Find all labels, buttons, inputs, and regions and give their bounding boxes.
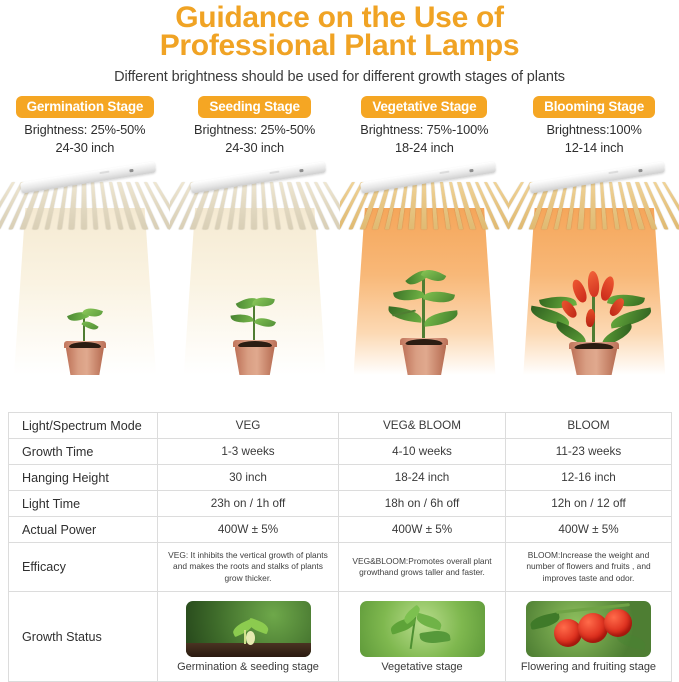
cell-height-vegbloom: 18-24 inch	[339, 465, 506, 491]
plant-seedling-medium	[215, 275, 295, 375]
cell-efficacy-veg: VEG: It inhibits the vertical growth of …	[158, 543, 339, 592]
lamp-led-bar	[409, 182, 417, 229]
pot-body	[66, 348, 104, 375]
plant-stem	[422, 277, 425, 341]
lamp-led-bar	[396, 182, 407, 229]
cell-mode-bloom: BLOOM	[506, 413, 672, 439]
title-line-1: Guidance on the Use of	[0, 4, 679, 32]
stage-badge-blooming[interactable]: Blooming Stage	[533, 96, 655, 118]
table-row: Actual Power 400W ± 5% 400W ± 5% 400W ± …	[9, 517, 672, 543]
efficacy-text-veg: VEG: It inhibits the vertical growth of …	[158, 550, 338, 585]
pot-soil	[575, 343, 614, 350]
row-label-light-time: Light Time	[9, 491, 158, 517]
lamp-led-bar	[251, 182, 256, 229]
lamp-led-bar	[57, 182, 68, 229]
plant-pot	[64, 341, 106, 375]
lamp-label-icon	[439, 171, 449, 175]
cell-efficacy-vegbloom: VEG&BLOOM:Promotes overall plant growtha…	[339, 543, 506, 592]
cell-growth-time-veg: 1-3 weeks	[158, 439, 339, 465]
lamp-label-icon	[99, 171, 109, 175]
lamp-led-bar	[591, 182, 596, 229]
row-label-mode: Light/Spectrum Mode	[9, 413, 158, 439]
lamp-led-bar	[239, 182, 247, 229]
photo-leaf	[419, 628, 450, 644]
lamp-port-icon	[469, 169, 473, 173]
plant-pot	[400, 338, 448, 375]
plant-leaf	[393, 286, 425, 305]
table-row: Light/Spectrum Mode VEG VEG& BLOOM BLOOM	[9, 413, 672, 439]
cell-mode-veg: VEG	[158, 413, 339, 439]
cell-status-bloom: Flowering and fruiting stage	[506, 592, 672, 682]
lamp-led-bar	[69, 182, 77, 229]
title-line-2: Professional Plant Lamps	[0, 32, 679, 60]
status-caption-germination: Germination & seeding stage	[177, 661, 319, 673]
lamp-led-bar	[91, 182, 99, 229]
stage-column-germination: Germination Stage Brightness: 25%-50% 24…	[0, 96, 170, 375]
row-label-growth-status: Growth Status	[9, 592, 158, 682]
plant-leafy	[376, 249, 472, 375]
grow-lamp-icon	[176, 168, 334, 254]
plant-pot	[233, 340, 277, 375]
photo-soil	[186, 643, 311, 657]
pot-body	[402, 345, 446, 375]
lamp-led-bar	[579, 182, 587, 229]
photo-leaf	[414, 612, 442, 630]
table-row: Growth Status Germination & seeding stag…	[9, 592, 672, 682]
pot-soil	[69, 342, 101, 349]
spec-table-container: Light/Spectrum Mode VEG VEG& BLOOM BLOOM…	[8, 412, 671, 682]
plant-leaf	[423, 288, 455, 307]
efficacy-text-vegbloom: VEG&BLOOM:Promotes overall plant growtha…	[339, 556, 505, 579]
lamp-label-icon	[269, 171, 279, 175]
stage-brightness-germination: Brightness: 25%-50%	[0, 122, 170, 137]
stage-height-seeding: 24-30 inch	[170, 140, 340, 155]
stage-brightness-seeding: Brightness: 25%-50%	[170, 122, 340, 137]
stage-brightness-blooming: Brightness:100%	[509, 122, 679, 137]
stage-badge-germination[interactable]: Germination Stage	[16, 96, 155, 118]
row-label-actual-power: Actual Power	[9, 517, 158, 543]
lamp-led-bar	[439, 182, 450, 229]
lamp-led-bar	[431, 182, 439, 229]
stage-brightness-vegetative: Brightness: 75%-100%	[340, 122, 510, 137]
row-label-efficacy: Efficacy	[9, 543, 158, 592]
cell-status-vegbloom: Vegetative stage	[339, 592, 506, 682]
lamp-led-bar	[227, 182, 238, 229]
plant-leaf	[252, 295, 275, 309]
stage-height-blooming: 12-14 inch	[509, 140, 679, 155]
cell-light-time-vegbloom: 18h on / 6h off	[339, 491, 506, 517]
status-caption-fruiting: Flowering and fruiting stage	[521, 661, 656, 673]
stage-height-germination: 24-30 inch	[0, 140, 170, 155]
lamp-led-bar	[100, 182, 111, 229]
germination-photo	[186, 601, 311, 657]
stage-columns: Germination Stage Brightness: 25%-50% 24…	[0, 96, 679, 375]
lamp-port-icon	[638, 169, 642, 173]
plant-seedling-small	[50, 283, 120, 375]
efficacy-text-bloom: BLOOM:Increase the weight and number of …	[506, 550, 671, 585]
row-label-growth-time: Growth Time	[9, 439, 158, 465]
pepper-fruit	[587, 271, 600, 298]
stage-height-vegetative: 18-24 inch	[340, 140, 510, 155]
spec-table: Light/Spectrum Mode VEG VEG& BLOOM BLOOM…	[8, 412, 672, 682]
table-row: Hanging Height 30 inch 18-24 inch 12-16 …	[9, 465, 672, 491]
lamp-port-icon	[299, 169, 303, 173]
cell-power-vegbloom: 400W ± 5%	[339, 517, 506, 543]
plant-leaf	[230, 313, 253, 325]
lamp-led-bar	[609, 182, 620, 229]
stage-badge-vegetative[interactable]: Vegetative Stage	[361, 96, 487, 118]
cell-power-veg: 400W ± 5%	[158, 517, 339, 543]
plant-pepper	[524, 245, 664, 375]
illustration-panel-vegetative	[340, 160, 510, 375]
lamp-led-bar	[270, 182, 281, 229]
cell-light-time-veg: 23h on / 1h off	[158, 491, 339, 517]
grow-lamp-icon	[346, 168, 504, 254]
cell-mode-vegbloom: VEG& BLOOM	[339, 413, 506, 439]
lamp-led-bar	[82, 182, 87, 229]
cell-status-veg: Germination & seeding stage	[158, 592, 339, 682]
photo-sprout-stem	[244, 630, 246, 644]
pot-soil	[238, 341, 272, 348]
lamp-port-icon	[129, 169, 133, 173]
cell-power-bloom: 400W ± 5%	[506, 517, 672, 543]
photo-sprout-seed	[246, 631, 255, 645]
photo-tomato	[604, 609, 632, 637]
grow-lamp-icon	[515, 168, 673, 254]
cell-light-time-bloom: 12h on / 12 off	[506, 491, 672, 517]
illustration-panel-blooming	[509, 160, 679, 375]
plant-leaf	[421, 265, 446, 286]
pot-soil	[406, 339, 443, 346]
stage-badge-seeding[interactable]: Seeding Stage	[198, 96, 310, 118]
status-caption-vegetative: Vegetative stage	[381, 661, 462, 673]
page-subtitle: Different brightness should be used for …	[0, 69, 679, 85]
stage-column-blooming: Blooming Stage Brightness:100% 12-14 inc…	[509, 96, 679, 375]
grow-lamp-icon	[6, 168, 164, 254]
plant-pot	[569, 342, 619, 375]
table-row: Light Time 23h on / 1h off 18h on / 6h o…	[9, 491, 672, 517]
illustration-panel-seeding	[170, 160, 340, 375]
table-row: Growth Time 1-3 weeks 4-10 weeks 11-23 w…	[9, 439, 672, 465]
cell-height-veg: 30 inch	[158, 465, 339, 491]
lamp-led-bar	[566, 182, 577, 229]
page-title: Guidance on the Use of Professional Plan…	[0, 4, 679, 60]
illustration-panel-germination	[0, 160, 170, 375]
lamp-led-bar	[421, 182, 426, 229]
stage-column-seeding: Seeding Stage Brightness: 25%-50% 24-30 …	[170, 96, 340, 375]
plant-leaf	[424, 310, 459, 326]
lamp-led-bar	[600, 182, 608, 229]
photo-tomato	[578, 613, 608, 643]
lamp-label-icon	[609, 171, 619, 175]
page-header: Guidance on the Use of Professional Plan…	[0, 0, 679, 85]
vegetative-photo	[360, 601, 485, 657]
plant-leaf	[254, 315, 276, 331]
fruiting-photo	[526, 601, 651, 657]
stage-column-vegetative: Vegetative Stage Brightness: 75%-100% 18…	[340, 96, 510, 375]
cell-efficacy-bloom: BLOOM:Increase the weight and number of …	[506, 543, 672, 592]
pot-body	[235, 347, 275, 375]
cell-height-bloom: 12-16 inch	[506, 465, 672, 491]
table-row: Efficacy VEG: It inhibits the vertical g…	[9, 543, 672, 592]
lamp-led-bar	[261, 182, 269, 229]
cell-growth-time-vegbloom: 4-10 weeks	[339, 439, 506, 465]
row-label-hanging-height: Hanging Height	[9, 465, 158, 491]
cell-growth-time-bloom: 11-23 weeks	[506, 439, 672, 465]
pot-body	[571, 349, 617, 375]
